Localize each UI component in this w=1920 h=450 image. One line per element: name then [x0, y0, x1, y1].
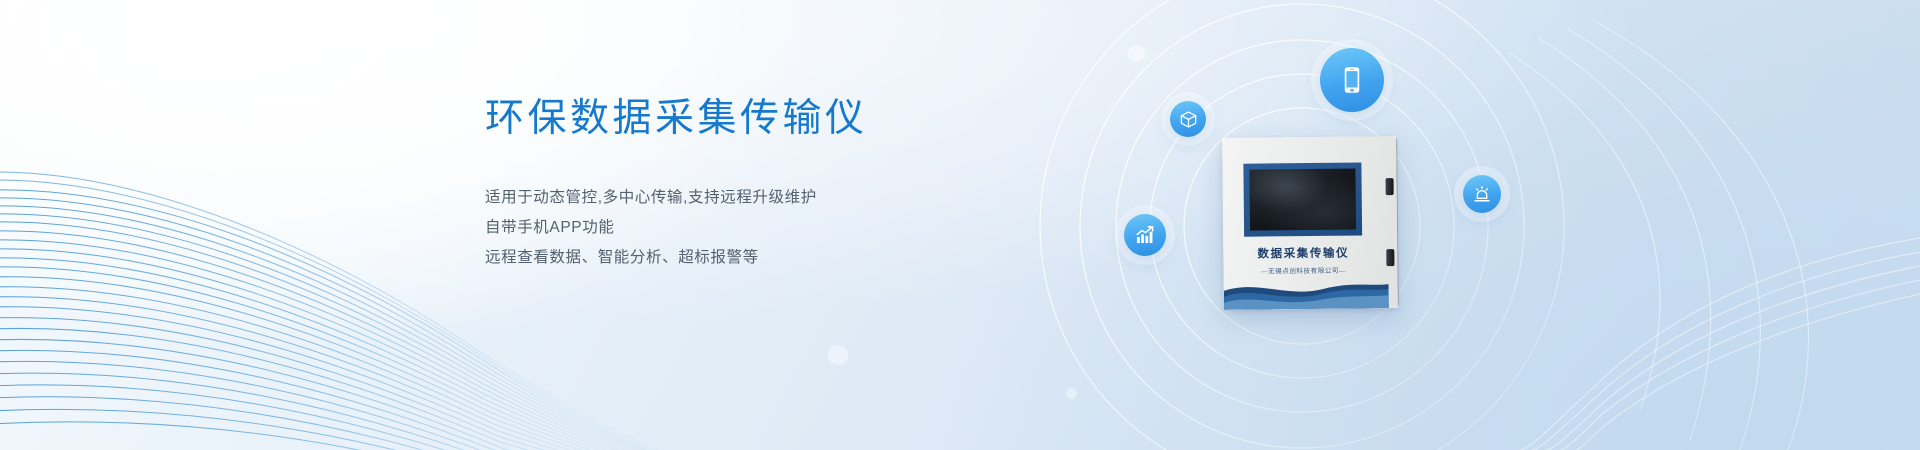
device-footer-wave	[1224, 275, 1389, 310]
device-hinge-bottom	[1386, 249, 1394, 266]
decorative-bubble	[828, 345, 848, 365]
decorative-bubble	[1066, 388, 1077, 399]
smartphone-icon	[1337, 65, 1367, 95]
device-label: 数据采集传输仪 —无锡点创科技有限公司—	[1223, 244, 1383, 276]
smartphone-icon-bubble	[1320, 48, 1384, 112]
device-screen-bezel	[1243, 162, 1362, 236]
page-title: 环保数据采集传输仪	[485, 96, 1045, 141]
device-company-label: —无锡点创科技有限公司—	[1223, 264, 1383, 276]
cube-icon	[1179, 110, 1198, 129]
data-acquisition-device: 数据采集传输仪 —无锡点创科技有限公司—	[1222, 136, 1398, 310]
chart-growth-icon	[1134, 224, 1156, 246]
device-enclosure: 数据采集传输仪 —无锡点创科技有限公司—	[1222, 136, 1398, 310]
device-hinge-top	[1386, 178, 1394, 195]
decorative-bubble	[1128, 45, 1145, 62]
hero-text-block: 环保数据采集传输仪 适用于动态管控,多中心传输,支持远程升级维护 自带手机APP…	[485, 96, 1045, 273]
alarm-siren-icon-bubble	[1463, 175, 1501, 213]
device-display	[1249, 169, 1356, 231]
cube-icon-bubble	[1170, 101, 1206, 137]
chart-growth-icon-bubble	[1124, 214, 1166, 256]
hero-subtitle-line-1: 适用于动态管控,多中心传输,支持远程升级维护	[485, 183, 1045, 213]
alarm-siren-icon	[1472, 184, 1492, 204]
product-hero-banner: 环保数据采集传输仪 适用于动态管控,多中心传输,支持远程升级维护 自带手机APP…	[0, 0, 1920, 450]
hero-subtitle-line-2: 自带手机APP功能	[485, 213, 1045, 243]
device-brand-label: 数据采集传输仪	[1223, 244, 1383, 262]
hero-subtitle-list: 适用于动态管控,多中心传输,支持远程升级维护 自带手机APP功能 远程查看数据、…	[485, 183, 1045, 273]
hero-subtitle-line-3: 远程查看数据、智能分析、超标报警等	[485, 243, 1045, 273]
